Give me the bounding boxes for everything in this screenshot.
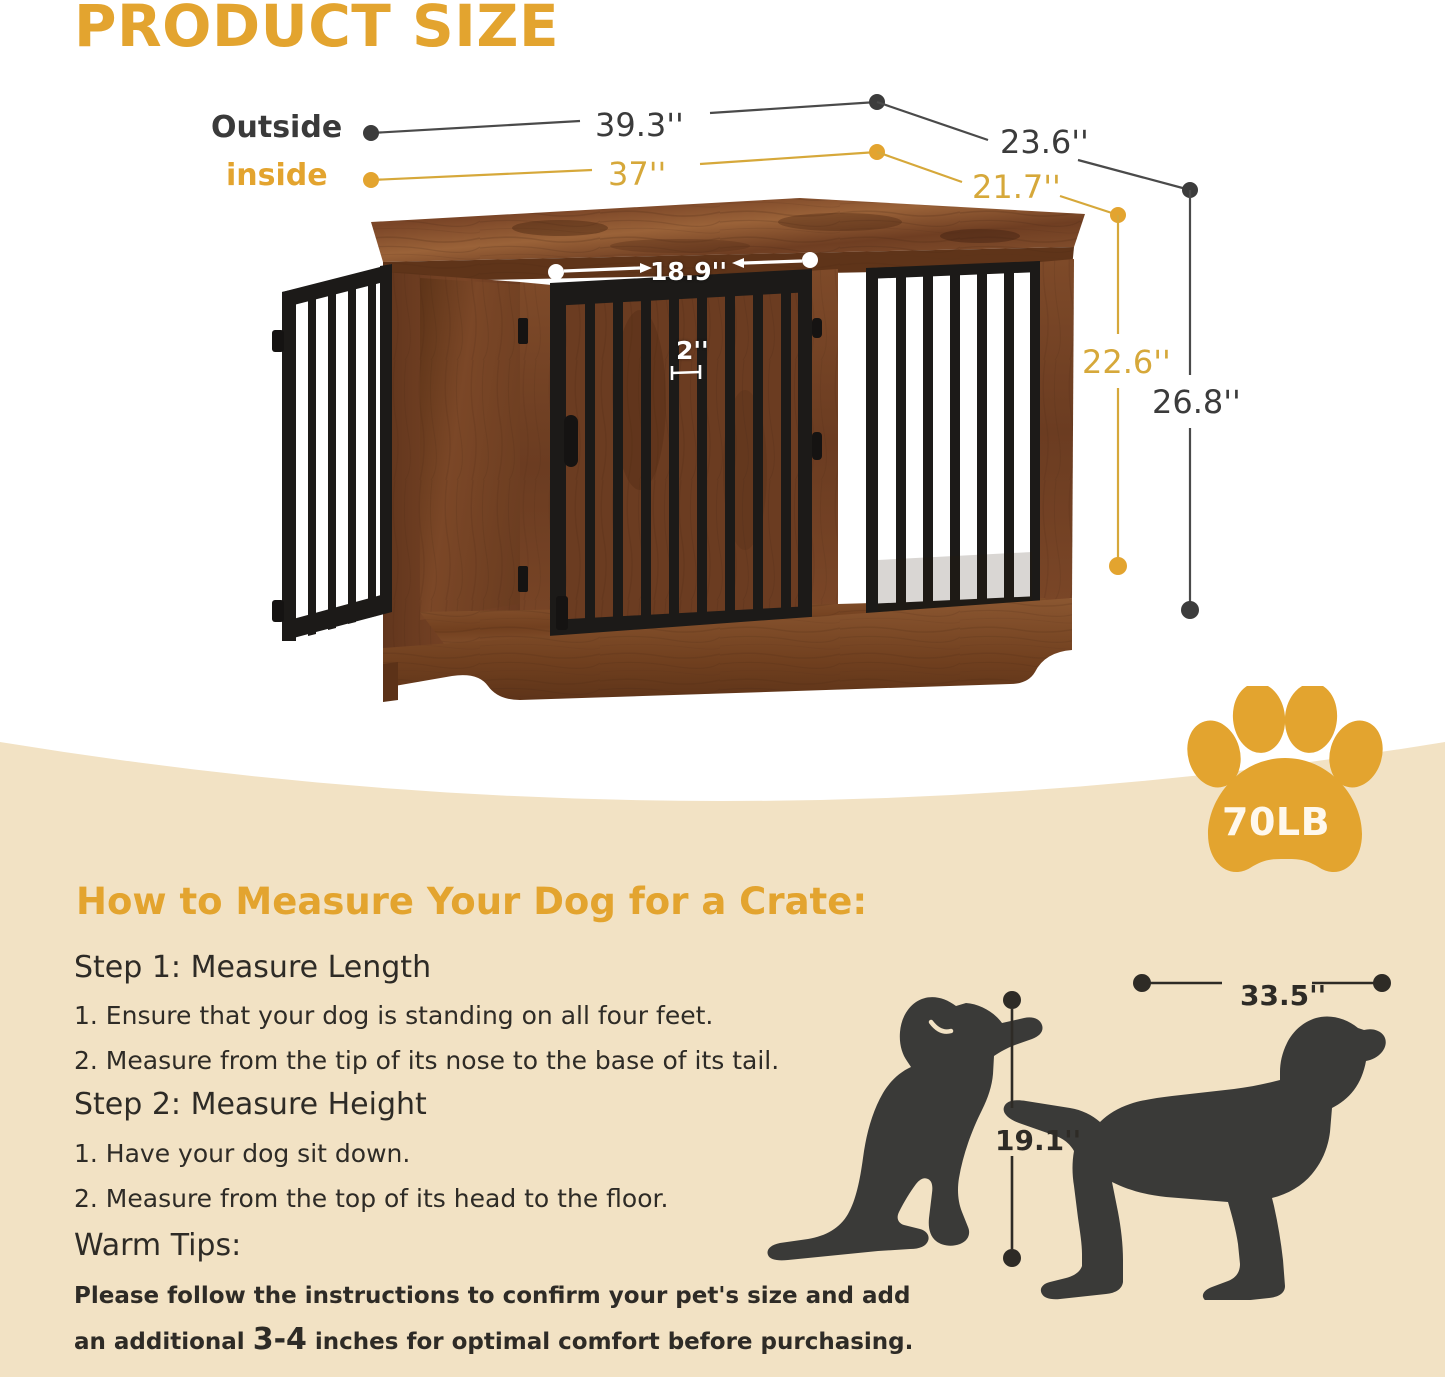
- paw-print-icon: [1180, 686, 1390, 886]
- dimension-label-inside-height: 22.6'': [1082, 343, 1171, 381]
- weight-badge-label: 70LB: [1222, 800, 1330, 844]
- warm-tips-emphasis: 3-4: [253, 1322, 307, 1357]
- warm-tips-line-2-prefix: an additional: [74, 1329, 253, 1355]
- step2-line-1: 1. Have your dog sit down.: [74, 1139, 410, 1168]
- step1-title: Step 1: Measure Length: [74, 950, 431, 985]
- warm-tips-title: Warm Tips:: [74, 1228, 241, 1263]
- dimension-label-outside-height: 26.8'': [1152, 383, 1241, 421]
- legend-outside-label: Outside: [211, 110, 342, 145]
- dimension-label-dog-length: 33.5'': [1240, 979, 1326, 1012]
- step2-line-2: 2. Measure from the top of its head to t…: [74, 1184, 668, 1213]
- legend-inside-label: inside: [226, 158, 328, 193]
- dimension-inside-height: [1109, 215, 1127, 575]
- standing-dog-silhouette-icon: [1004, 1016, 1386, 1300]
- warm-tips-line-2: an additional 3-4 inches for optimal com…: [74, 1322, 913, 1357]
- dimension-label-inside-width: 37'': [608, 155, 666, 193]
- dimension-bar-spacing: [672, 365, 700, 380]
- measure-guide-heading: How to Measure Your Dog for a Crate:: [76, 880, 867, 923]
- dimension-label-inside-depth: 21.7'': [972, 168, 1061, 206]
- page-title: PRODUCT SIZE: [74, 0, 559, 57]
- dimension-label-bar-spacing: 2'': [676, 336, 709, 365]
- warm-tips-line-2-suffix: inches for optimal comfort before purcha…: [307, 1329, 913, 1355]
- step1-line-2: 2. Measure from the tip of its nose to t…: [74, 1046, 779, 1075]
- dimension-label-door-width: 18.9'': [650, 257, 727, 286]
- dimension-label-dog-height: 19.1'': [995, 1124, 1081, 1157]
- dimension-label-outside-width: 39.3'': [595, 106, 684, 144]
- step1-line-1: 1. Ensure that your dog is standing on a…: [74, 1001, 713, 1030]
- step2-title: Step 2: Measure Height: [74, 1087, 427, 1122]
- dimension-label-outside-depth: 23.6'': [1000, 123, 1089, 161]
